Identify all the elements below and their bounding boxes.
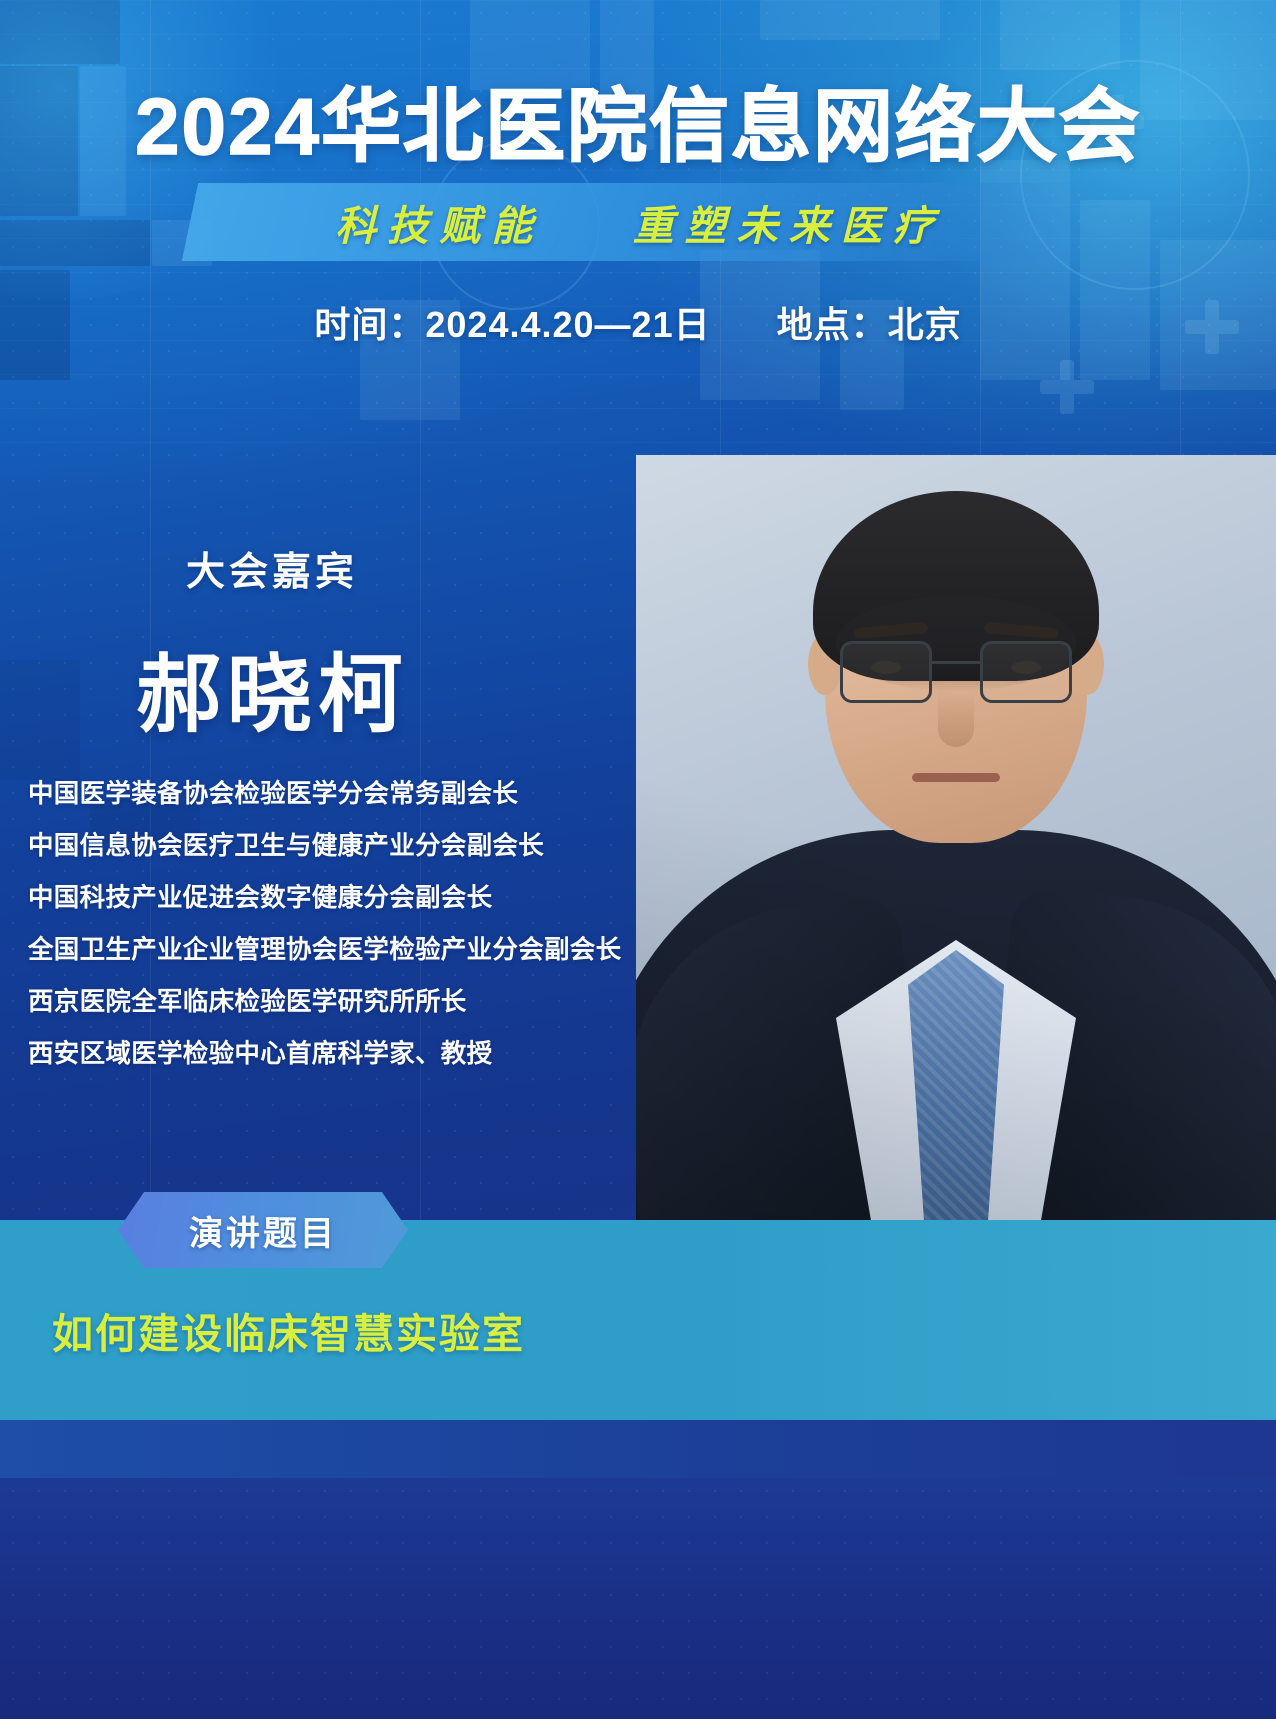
- credential-item: 全国卫生产业企业管理协会医学检验产业分会副会长: [28, 924, 648, 976]
- speech-topic-badge-label: 演讲题目: [189, 1206, 337, 1255]
- conference-title: 2024华北医院信息网络大会: [0, 62, 1276, 178]
- poster-footer: [0, 1478, 1276, 1719]
- credential-item: 西京医院全军临床检验医学研究所所长: [28, 976, 648, 1028]
- speech-topic-badge: 演讲题目: [118, 1192, 408, 1268]
- credential-item: 西安区域医学检验中心首席科学家、教授: [28, 1028, 648, 1080]
- guest-name: 郝晓柯: [136, 626, 409, 749]
- credential-item: 中国医学装备协会检验医学分会常务副会长: [28, 768, 648, 820]
- speaker-portrait-photo: [636, 455, 1276, 1220]
- guest-label: 大会嘉宾: [186, 541, 358, 597]
- lower-blue-bar: [0, 1420, 1276, 1478]
- conference-slogan: 科技赋能 重塑未来医疗: [190, 183, 1090, 261]
- credential-item: 中国科技产业促进会数字健康分会副会长: [28, 872, 648, 924]
- conference-speaker-poster: 2024华北医院信息网络大会 科技赋能 重塑未来医疗 时间：2024.4.20—…: [0, 0, 1276, 1719]
- poster-header: 2024华北医院信息网络大会 科技赋能 重塑未来医疗 时间：2024.4.20—…: [0, 0, 1276, 400]
- footer-dot-pattern: [0, 1478, 1276, 1719]
- credential-item: 中国信息协会医疗卫生与健康产业分会副会长: [28, 820, 648, 872]
- guest-credentials-list: 中国医学装备协会检验医学分会常务副会长 中国信息协会医疗卫生与健康产业分会副会长…: [28, 768, 648, 1080]
- date-and-location: 时间：2024.4.20—21日 地点：北京: [0, 296, 1276, 348]
- portrait-shading: [636, 455, 1276, 1220]
- speech-topic-title: 如何建设临床智慧实验室: [52, 1300, 525, 1360]
